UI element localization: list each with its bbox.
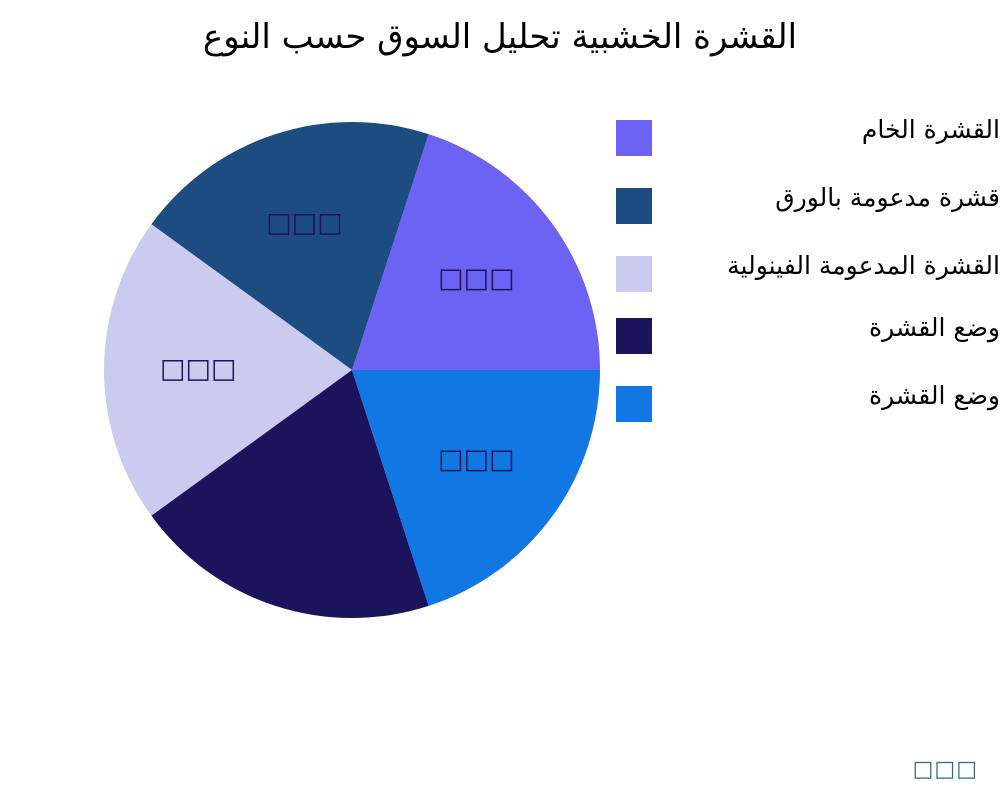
legend-item-label: وضع القشرة: [674, 314, 1000, 342]
legend-color-swatch: [616, 386, 652, 422]
legend-item[interactable]: وضع القشرة: [616, 314, 1000, 358]
pie-slice-label: □□□: [266, 207, 343, 238]
legend-color-swatch: [616, 120, 652, 156]
legend-item[interactable]: القشرة الخام: [616, 116, 1000, 160]
legend-color-swatch: [616, 318, 652, 354]
corner-watermark: □□□: [913, 757, 978, 782]
pie-svg: □□□□□□□□□□□□□□□: [104, 122, 600, 618]
legend-item[interactable]: وضع القشرة: [616, 382, 1000, 426]
pie-slice-label: □□□: [266, 500, 343, 531]
legend-item[interactable]: قشرة مدعومة بالورق: [616, 184, 1000, 228]
legend-item-label: وضع القشرة: [674, 382, 1000, 410]
pie-plot-area: □□□□□□□□□□□□□□□: [104, 122, 600, 618]
pie-slice-label: □□□: [438, 263, 515, 294]
legend-color-swatch: [616, 188, 652, 224]
page-title: القشرة الخشبية تحليل السوق حسب النوع: [0, 18, 1000, 57]
legend-item-label: القشرة الخام: [674, 116, 1000, 144]
legend-item-label: قشرة مدعومة بالورق: [674, 184, 1000, 212]
legend-color-swatch: [616, 256, 652, 292]
pie-slice-label: □□□: [438, 444, 515, 475]
pie-chart-figure: القشرة الخشبية تحليل السوق حسب النوع □□□…: [0, 0, 1000, 800]
legend: القشرة الخامقشرة مدعومة بالورقالقشرة الم…: [616, 116, 1000, 450]
pie-slice-label: □□□: [160, 354, 237, 385]
legend-item-label: القشرة المدعومة الفينولية: [674, 252, 1000, 280]
legend-item[interactable]: القشرة المدعومة الفينولية: [616, 252, 1000, 296]
